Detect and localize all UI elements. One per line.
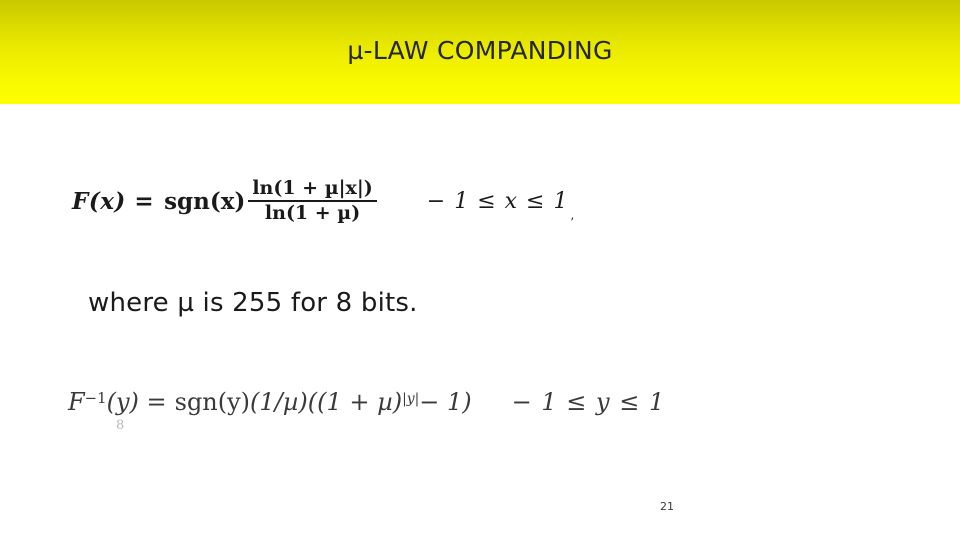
formula-inverse-artifact: 8 (116, 418, 124, 433)
slide: µ-LAW COMPANDING F(x) = sgn(x) ln(1 + µ|… (0, 0, 960, 540)
formula-forward-row: F(x) = sgn(x) ln(1 + µ|x|) ln(1 + µ) − 1… (72, 178, 574, 225)
formula-inverse-sgn: sgn(y) (175, 388, 250, 416)
formula-inverse-scale: (1/µ) (250, 388, 308, 416)
formula-forward-lhs: F(x) = (72, 188, 154, 215)
note-text: where µ is 255 for 8 bits. (88, 288, 418, 318)
formula-forward-fraction: ln(1 + µ|x|) ln(1 + µ) (248, 178, 376, 225)
formula-forward-range: − 1 ≤ x ≤ 1 (427, 189, 569, 214)
formula-forward-sgn: sgn(x) (164, 188, 245, 215)
formula-forward: F(x) = sgn(x) ln(1 + µ|x|) ln(1 + µ) − 1… (72, 178, 574, 225)
formula-forward-trailing-mark: , (570, 208, 574, 225)
formula-inverse-lhs: F (68, 388, 85, 416)
formula-forward-numerator: ln(1 + µ|x|) (248, 178, 376, 200)
formula-inverse-row: F−1(y) = sgn(y)(1/µ)((1 + µ)|y|− 1) − 1 … (68, 388, 665, 416)
formula-inverse-lhs-exponent: −1 (85, 389, 107, 407)
formula-forward-denominator: ln(1 + µ) (261, 202, 364, 224)
slide-number: 21 (660, 500, 674, 513)
page-title: µ-LAW COMPANDING (0, 36, 960, 65)
formula-inverse-range: − 1 ≤ y ≤ 1 (512, 388, 666, 416)
formula-inverse-lhs-arg: (y) = (107, 388, 167, 416)
formula-inverse-exponent: |y| (402, 391, 419, 407)
formula-inverse-open: ((1 + µ) (308, 388, 402, 416)
formula-inverse: F−1(y) = sgn(y)(1/µ)((1 + µ)|y|− 1) − 1 … (68, 388, 665, 416)
formula-inverse-close: − 1) (419, 388, 471, 416)
